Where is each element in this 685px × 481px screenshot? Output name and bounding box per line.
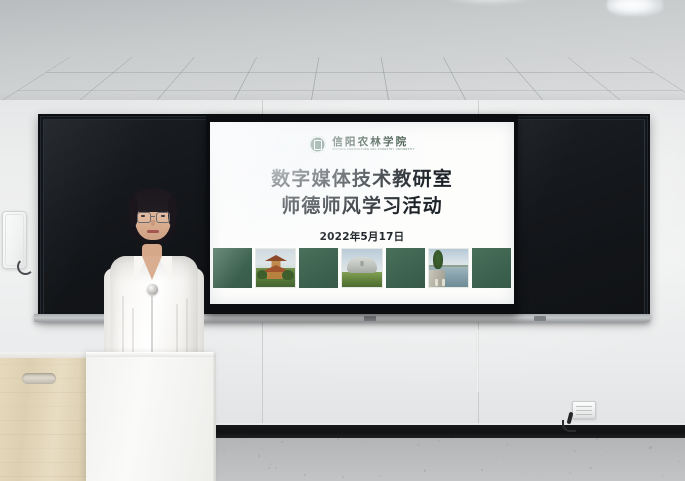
lake-post-2: [442, 279, 445, 286]
cabinet-wood-grain: [0, 476, 88, 477]
floor-speckle: [606, 451, 607, 452]
outlet-seam-1: [576, 406, 592, 407]
floor-speckle: [649, 446, 651, 448]
floor-speckle: [438, 440, 440, 442]
wall-control-box-cable: [17, 258, 34, 275]
tray-clip-3: [534, 316, 546, 321]
floor-speckle: [275, 467, 277, 469]
floor-speckle: [377, 463, 378, 464]
slide-date: 2022年5月17日: [210, 229, 514, 244]
slide-logo: 信阳农林学院 XINYANG AGRICULTURE AND FORESTRY …: [210, 136, 514, 153]
lectern: [86, 352, 216, 481]
presenter-nose: [151, 220, 155, 226]
outlet-wire: [562, 420, 576, 432]
eyeglasses-bridge: [150, 216, 155, 217]
cabinet-wood-grain: [0, 406, 88, 407]
cabinet-wood-grain: [0, 420, 88, 421]
floor-speckle: [596, 438, 598, 440]
lake-tree: [433, 250, 443, 269]
floor-speckle: [304, 479, 305, 480]
floor-speckle: [361, 443, 362, 444]
presenter-brooch: [147, 284, 158, 295]
dome-lawn: [342, 272, 381, 287]
floor-speckle: [337, 438, 339, 440]
floor-speckle: [525, 473, 526, 474]
outlet-seam-3: [576, 414, 592, 415]
floor-speckle: [281, 441, 283, 443]
university-emblem-icon: [309, 136, 326, 153]
floor-speckle: [424, 469, 426, 471]
presenter-vneck: [142, 256, 162, 280]
dome-finial: [360, 261, 363, 266]
cabinet-handle[interactable]: [22, 373, 56, 384]
floor-speckle: [304, 474, 306, 476]
slide-title-line-2: 师德师风学习活动: [210, 193, 514, 220]
lake-post-1: [435, 279, 438, 286]
floor-speckle: [678, 461, 680, 463]
floor-speckle: [589, 467, 591, 469]
ceiling-light-glow: [445, 0, 535, 4]
university-name-en: XINYANG AGRICULTURE AND FORESTRY UNIVERS…: [332, 149, 415, 152]
floor-speckle: [506, 444, 508, 446]
floor-speckle: [598, 458, 600, 460]
accent-block-2: [299, 248, 338, 288]
floor-speckle: [450, 438, 451, 439]
slide-photo-strip: [210, 248, 514, 288]
tray-clip-2: [364, 316, 376, 321]
floor-speckle: [268, 467, 270, 469]
slide-title-line-1: 数字媒体技术教研室: [210, 166, 514, 193]
blouse-placket: [151, 294, 153, 354]
floor-speckle: [417, 444, 419, 446]
floor-speckle: [496, 458, 497, 459]
floor-speckle: [258, 455, 260, 457]
ceiling-light-fixture: [607, 0, 663, 16]
floor-speckle: [675, 450, 676, 451]
slide-title-block: 数字媒体技术教研室 师德师风学习活动 2022年5月17日: [210, 166, 514, 244]
eyeglasses-lens-right: [156, 212, 170, 223]
eyeglasses-lens-left: [137, 212, 151, 223]
university-wordmark: 信阳农林学院 XINYANG AGRICULTURE AND FORESTRY …: [332, 137, 415, 152]
presenter-mouth: [147, 230, 159, 233]
photo-pavilion: [255, 248, 296, 288]
floor-speckle: [662, 475, 664, 477]
outlet-seam-2: [576, 410, 592, 411]
university-name-cn: 信阳农林学院: [332, 137, 415, 148]
photo-dome-building: [341, 248, 382, 288]
accent-block-3: [386, 248, 425, 288]
floor-speckle: [481, 469, 483, 471]
power-outlet[interactable]: [572, 401, 596, 419]
pavilion-upper-roof: [265, 255, 287, 261]
floor-speckle: [270, 463, 271, 464]
floor-speckle: [622, 459, 623, 460]
pavilion-bush-right: [282, 270, 294, 280]
cabinet-wood-grain: [0, 462, 88, 463]
lectern-right-edge: [213, 352, 216, 481]
floor-speckle: [342, 476, 344, 478]
cabinet-wood-grain: [0, 448, 88, 449]
cabinet-wood-grain: [0, 392, 88, 393]
floor-speckle: [543, 475, 544, 476]
floor-speckle: [223, 450, 225, 452]
floor-speckle: [569, 472, 571, 474]
floor-speckle: [282, 463, 283, 464]
wall-conduit: [476, 330, 479, 392]
display-bezel: 信阳农林学院 XINYANG AGRICULTURE AND FORESTRY …: [206, 116, 518, 314]
classroom-scene: 信阳农林学院 XINYANG AGRICULTURE AND FORESTRY …: [0, 0, 685, 481]
floor-speckle: [574, 450, 576, 452]
floor-speckle: [499, 473, 500, 474]
accent-block-4: [472, 248, 511, 288]
cabinet-wood-grain: [0, 364, 88, 365]
cabinet-wood-grain: [0, 434, 88, 435]
floor-speckle: [379, 475, 381, 477]
photo-lakeside: [428, 248, 469, 288]
lectern-top-edge: [86, 352, 216, 357]
floor-speckle: [244, 438, 245, 439]
floor-speckle: [253, 451, 254, 452]
accent-block-1: [213, 248, 252, 288]
pavilion-bush-left: [257, 270, 267, 279]
presentation-slide[interactable]: 信阳农林学院 XINYANG AGRICULTURE AND FORESTRY …: [210, 122, 514, 304]
floor-speckle: [242, 443, 243, 444]
